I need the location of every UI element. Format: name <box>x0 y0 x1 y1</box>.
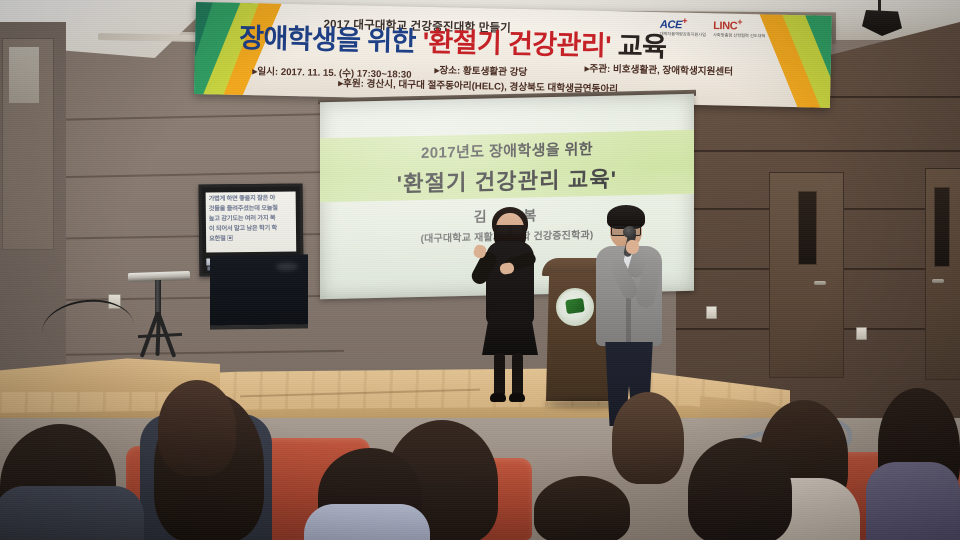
lecture-hall-photo: ACE+ 대학자율역량강화지원사업 LINC+ 사회맞춤형 산학협력 선도대학 … <box>0 0 960 540</box>
right-door-2[interactable] <box>925 168 960 380</box>
banner-title-part3: 교육 <box>617 31 666 62</box>
interpreter-shoe <box>509 393 525 402</box>
banner-stripes-left <box>194 2 308 108</box>
audience-member-coat <box>0 486 144 540</box>
dark-display-panel <box>210 254 308 329</box>
banner-title-part1: 장애학생을 위한 <box>239 23 416 57</box>
right-door-2-handle[interactable] <box>932 279 944 283</box>
caption-text-area: 가볍게 하면 좋을지 잘은 아 것들을 들려주셨는데 오늘절 높고 감기도는 여… <box>206 192 297 253</box>
interpreter-leg <box>494 353 505 397</box>
banner-title-part2: '환절기 건강관리' <box>422 27 611 61</box>
ace-plus-logo: ACE+ 대학자율역량강화지원사업 <box>660 15 707 38</box>
banner-logos: ACE+ 대학자율역량강화지원사업 LINC+ 사회맞춤형 산학협력 선도대학 <box>660 15 766 39</box>
wall-power-outlet <box>706 306 717 319</box>
linc-logo-subtitle: 사회맞춤형 산학협력 선도대학 <box>713 32 766 39</box>
wall-power-outlet <box>856 327 867 340</box>
audience-member-head <box>612 392 684 484</box>
banner-place: ▸장소: 황토생활관 강당 <box>434 62 527 78</box>
audience-member-head <box>158 380 236 476</box>
interpreter-leg <box>512 353 523 397</box>
right-door-1-window <box>798 191 817 265</box>
ace-logo-subtitle: 대학자율역량강화지원사업 <box>660 31 706 38</box>
audience-member-head <box>688 438 792 540</box>
right-door-1-handle[interactable] <box>814 281 826 285</box>
left-door[interactable] <box>2 38 54 250</box>
projector-tripod-stand <box>122 272 196 360</box>
glasses-icon <box>497 225 523 232</box>
audience-member-coat <box>866 462 960 540</box>
right-door-1[interactable] <box>769 172 844 378</box>
linc-plus-logo: LINC+ 사회맞춤형 산학협력 선도대학 <box>713 16 766 39</box>
interpreter-shoe <box>490 393 506 402</box>
sign-language-interpreter <box>476 207 546 407</box>
caption-line: 요한절 ▣ <box>209 234 293 245</box>
ace-logo-text: ACE <box>660 19 682 31</box>
banner-host: ▸주관: 비호생활관, 장애학생지원센터 <box>585 60 734 77</box>
ace-plus-sign: + <box>682 16 687 26</box>
interpreter-dress <box>482 311 538 355</box>
linc-logo-text: LINC <box>713 20 737 33</box>
right-door-2-window <box>934 187 950 267</box>
audience-member-head <box>534 476 630 540</box>
event-banner: ACE+ 대학자율역량강화지원사업 LINC+ 사회맞춤형 산학협력 선도대학 … <box>194 2 832 108</box>
left-door-window <box>9 47 39 103</box>
linc-plus-sign: + <box>737 17 742 27</box>
microphone-head-icon <box>623 226 636 238</box>
audience-member-coat <box>304 504 430 540</box>
